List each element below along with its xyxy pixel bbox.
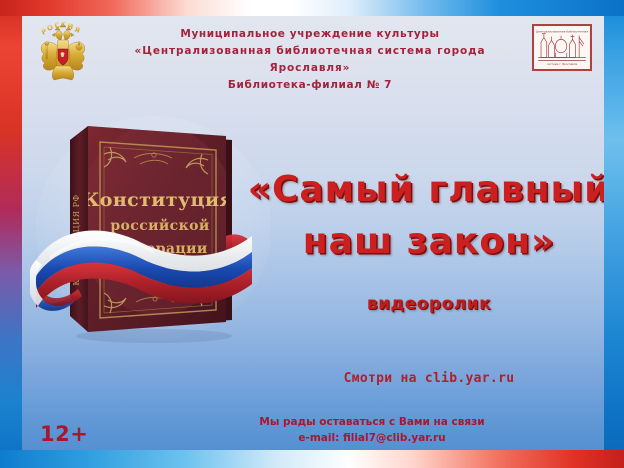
contact-line-1: Мы рады оставаться с Вами на связи xyxy=(172,414,572,430)
slide-content-panel: Р О С С И Я xyxy=(22,16,604,450)
slide-title: «Самый главный наш закон» xyxy=(234,164,604,268)
contact-block: Мы рады оставаться с Вами на связи e-mai… xyxy=(172,414,572,446)
frame-border-right xyxy=(604,0,624,468)
slide-title-line-2: наш закон» xyxy=(234,216,604,268)
svg-text:О: О xyxy=(46,23,54,33)
contact-email[interactable]: e-mail: filial7@clib.yar.ru xyxy=(172,430,572,446)
slide-header: Р О С С И Я xyxy=(22,16,604,90)
age-rating-badge: 12+ xyxy=(40,422,88,446)
svg-text:Конституция: Конституция xyxy=(82,189,234,211)
header-organization-text: Муниципальное учреждение культуры «Центр… xyxy=(100,26,520,94)
header-line-2: «Централизованная библиотечная система г… xyxy=(100,43,520,77)
slide-subtitle: видеоролик xyxy=(234,294,604,314)
russian-coat-of-arms-icon: Р О С С И Я xyxy=(34,22,92,84)
header-line-1: Муниципальное учреждение культуры xyxy=(100,26,520,43)
frame-border-bottom xyxy=(0,450,624,468)
svg-text:Централизованная библиотечная: Централизованная библиотечная xyxy=(536,30,588,34)
svg-text:Я: Я xyxy=(73,25,81,34)
watch-website-line[interactable]: Смотри на clib.yar.ru xyxy=(234,371,604,386)
slide-title-line-1: «Самый главный xyxy=(234,164,604,216)
frame-border-top xyxy=(0,0,624,16)
library-emblem-icon: Централизованная библиотечная xyxy=(532,24,592,71)
presentation-slide: Р О С С И Я xyxy=(0,0,624,468)
header-line-3: Библиотека-филиал № 7 xyxy=(100,77,520,94)
svg-text:российской: российской xyxy=(110,217,209,234)
svg-text:система г. Ярославля: система г. Ярославля xyxy=(547,62,578,66)
frame-border-left xyxy=(0,0,22,468)
